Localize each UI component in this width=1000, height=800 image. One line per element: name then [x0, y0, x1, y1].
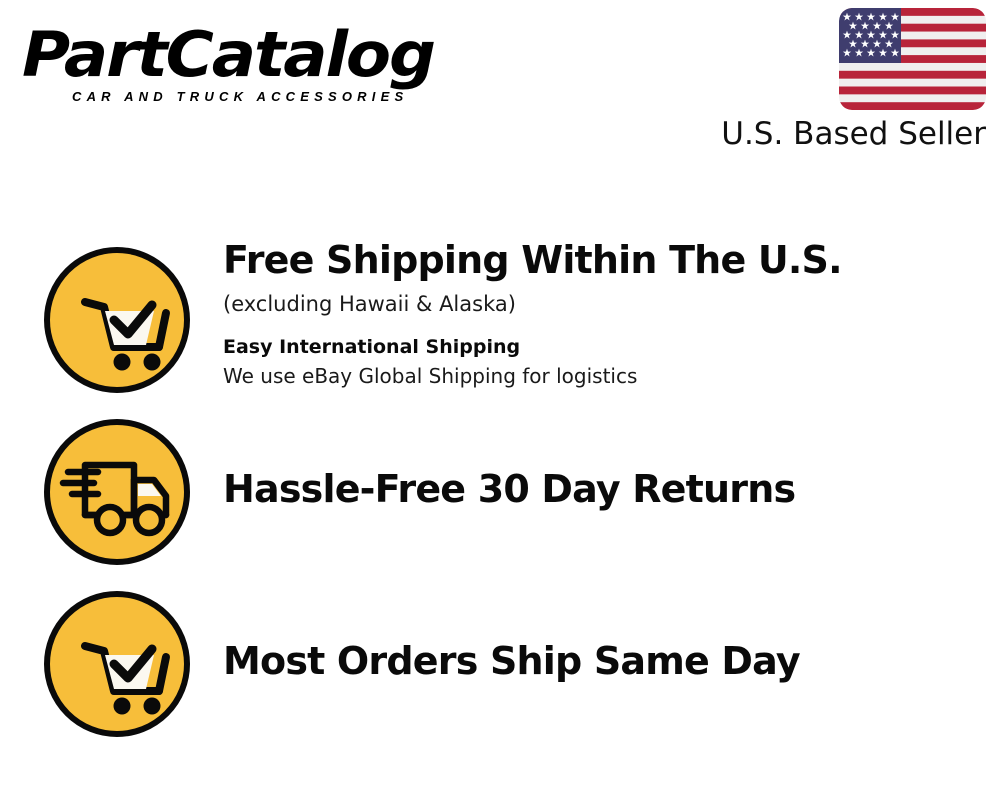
brand-wordmark: PartCatalog [22, 24, 520, 86]
feature-text-block: Free Shipping Within The U.S. (excluding… [223, 238, 983, 390]
us-based-seller-label: U.S. Based Seller [696, 116, 986, 152]
shopping-cart-check-icon [42, 245, 192, 395]
feature-subtext: (excluding Hawaii & Alaska) [223, 290, 983, 318]
feature-subnote: We use eBay Global Shipping for logistic… [223, 362, 983, 390]
shopping-cart-check-icon [42, 589, 192, 739]
feature-headline: Hassle-Free 30 Day Returns [223, 467, 983, 511]
delivery-truck-icon [42, 417, 192, 567]
feature-text-block: Hassle-Free 30 Day Returns [223, 467, 983, 511]
feature-headline: Free Shipping Within The U.S. [223, 238, 983, 282]
feature-headline: Most Orders Ship Same Day [223, 639, 983, 683]
feature-subheadline: Easy International Shipping [223, 334, 983, 361]
brand-logo[interactable]: PartCatalog CAR AND TRUCK ACCESSORIES [22, 24, 492, 114]
us-based-seller-badge: U.S. Based Seller [696, 8, 986, 152]
feature-text-block: Most Orders Ship Same Day [223, 639, 983, 683]
us-flag-icon [839, 8, 986, 110]
brand-tagline: CAR AND TRUCK ACCESSORIES [72, 89, 492, 104]
